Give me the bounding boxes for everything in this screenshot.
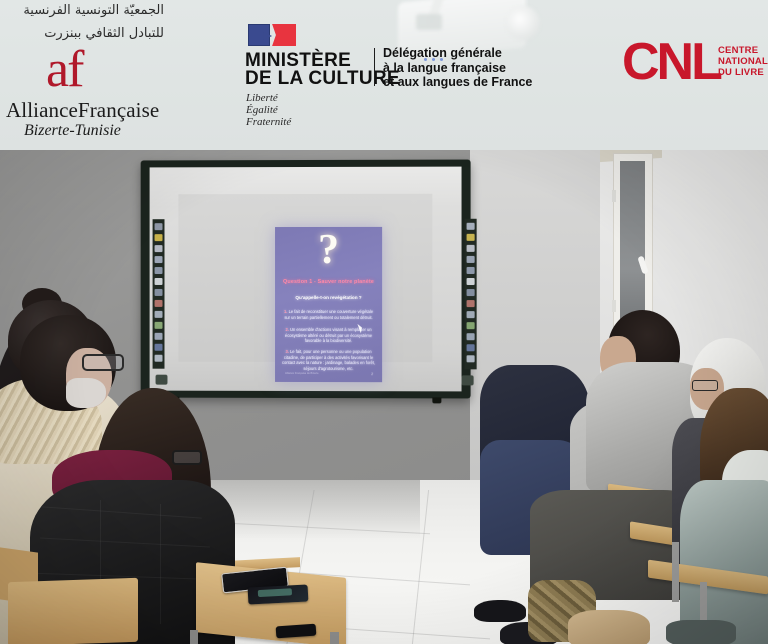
toolbar-icon[interactable] bbox=[467, 223, 475, 230]
slide-option-3-text: Le fait, pour une personne ou une popula… bbox=[282, 349, 375, 371]
af-arabic-line-2: للتبادل الثقافي ببنزرت bbox=[44, 26, 164, 41]
af-arabic-line-1: الجمعيّة التونسية الفرنسية bbox=[23, 3, 164, 18]
delegation-line-2: à la langue française bbox=[383, 61, 532, 76]
ministere-line-2: DE LA CULTURE bbox=[245, 68, 400, 90]
window-hinge bbox=[612, 300, 616, 312]
ministere-divider bbox=[374, 48, 375, 86]
toolbar-icon[interactable] bbox=[467, 300, 475, 307]
ministere-culture-logo: MINISTÈRE DE LA CULTURE Liberté Égalité … bbox=[243, 24, 383, 124]
toolbar-icon[interactable] bbox=[467, 267, 475, 274]
whiteboard-pen-tray-left[interactable] bbox=[156, 375, 168, 385]
slide-subtitle: Qu'appelle-t-on revégétation ? bbox=[275, 295, 382, 300]
toolbar-icon[interactable] bbox=[155, 344, 163, 351]
whiteboard-toolbar-left[interactable] bbox=[153, 219, 165, 369]
toolbar-icon[interactable] bbox=[155, 289, 163, 296]
toolbar-icon[interactable] bbox=[155, 223, 163, 230]
whiteboard-toolbar-right[interactable] bbox=[465, 219, 477, 370]
af-city-line: Bizerte-Tunisie bbox=[24, 122, 121, 140]
cnl-wordmark: CNL bbox=[622, 36, 720, 88]
slide-option-1: 1. Le fait de reconstituer une couvertur… bbox=[281, 309, 376, 320]
cnl-logo: CNL CENTRE NATIONAL DU LIVRE bbox=[622, 38, 758, 98]
cnl-tagline: CENTRE NATIONAL DU LIVRE bbox=[718, 45, 768, 78]
cnl-tag-line-3: DU LIVRE bbox=[718, 67, 768, 78]
slide-footer: Alliance Française de Bizerte bbox=[285, 372, 319, 375]
af-city: Bizerte bbox=[24, 122, 69, 139]
screenshot-root: الجمعيّة التونسية الفرنسية للتبادل الثقا… bbox=[0, 0, 768, 644]
beige-boot bbox=[568, 610, 650, 644]
toolbar-icon[interactable] bbox=[155, 333, 163, 340]
slide-option-1-number: 1. bbox=[284, 309, 287, 314]
toolbar-icon[interactable] bbox=[467, 311, 475, 318]
toolbar-icon[interactable] bbox=[467, 278, 475, 285]
af-country: Tunisie bbox=[75, 122, 121, 139]
whiteboard-surface: ? Question 1 - Sauver notre planète Qu'a… bbox=[150, 167, 462, 392]
whiteboard-pen-tray-right[interactable] bbox=[462, 375, 474, 385]
toolbar-icon[interactable] bbox=[467, 322, 475, 329]
slide-option-3-number: 3. bbox=[285, 349, 288, 354]
devise-egalite: Égalité bbox=[246, 104, 278, 116]
devise-fraternite: Fraternité bbox=[246, 116, 291, 128]
desk-leg bbox=[330, 632, 339, 644]
eyeglasses-icon bbox=[82, 354, 124, 371]
student-arm bbox=[666, 620, 736, 644]
alliance-francaise-logo: الجمعيّة التونسية الفرنسية للتبادل الثقا… bbox=[0, 0, 178, 150]
toolbar-icon[interactable] bbox=[467, 245, 475, 252]
classroom-photo: ? Question 1 - Sauver notre planète Qu'a… bbox=[0, 150, 768, 644]
slide-page-number: 2 bbox=[371, 372, 373, 376]
eyeglasses-icon bbox=[692, 380, 718, 391]
projector-lens-ghost bbox=[506, 6, 540, 40]
toolbar-icon[interactable] bbox=[155, 311, 163, 318]
eyeglasses-icon bbox=[172, 450, 202, 465]
toolbar-icon[interactable] bbox=[155, 245, 163, 252]
delegation-generale-text: Délégation générale à la langue français… bbox=[383, 46, 532, 90]
window-hinge bbox=[612, 190, 616, 202]
devise-liberte: Liberté bbox=[246, 92, 278, 104]
af-name: AllianceFrançaise bbox=[6, 98, 159, 123]
slide-title: Question 1 - Sauver notre planète bbox=[275, 279, 382, 285]
desk-leg bbox=[190, 630, 198, 644]
face-mask bbox=[66, 378, 106, 408]
toolbar-icon[interactable] bbox=[467, 289, 475, 296]
toolbar-icon[interactable] bbox=[467, 256, 475, 263]
toolbar-icon[interactable] bbox=[467, 333, 475, 340]
toolbar-icon[interactable] bbox=[155, 256, 163, 263]
toolbar-icon[interactable] bbox=[467, 344, 475, 351]
slide-option-2-number: 2. bbox=[285, 327, 288, 332]
whiteboard-mount bbox=[432, 397, 441, 403]
toolbar-icon[interactable] bbox=[467, 234, 475, 241]
cnl-tag-line-2: NATIONAL bbox=[718, 56, 768, 67]
projected-slide: ? Question 1 - Sauver notre planète Qu'a… bbox=[275, 227, 382, 382]
question-mark-icon: ? bbox=[275, 229, 382, 271]
projector-vent-ghost bbox=[416, 14, 442, 30]
toolbar-icon[interactable] bbox=[155, 234, 163, 241]
chair-leg bbox=[672, 542, 679, 602]
cnl-tag-line-1: CENTRE bbox=[718, 45, 768, 56]
af-monogram-icon: af bbox=[46, 44, 82, 96]
smartphone-black[interactable] bbox=[248, 584, 309, 604]
toolbar-icon[interactable] bbox=[467, 355, 475, 362]
slide-option-1-text: Le fait de reconstituer une couverture v… bbox=[284, 309, 373, 320]
projection-area: ? Question 1 - Sauver notre planète Qu'a… bbox=[178, 194, 432, 362]
toolbar-icon[interactable] bbox=[155, 300, 163, 307]
interactive-whiteboard[interactable]: ? Question 1 - Sauver notre planète Qu'a… bbox=[141, 160, 471, 399]
shoe bbox=[474, 600, 526, 622]
toolbar-icon[interactable] bbox=[155, 322, 163, 329]
delegation-line-1: Délégation générale bbox=[383, 46, 532, 61]
slide-option-3: 3. Le fait, pour une personne ou une pop… bbox=[281, 349, 376, 372]
phone-screen bbox=[258, 588, 292, 597]
toolbar-icon[interactable] bbox=[155, 355, 163, 362]
toolbar-icon[interactable] bbox=[155, 278, 163, 285]
toolbar-icon[interactable] bbox=[155, 267, 163, 274]
sponsor-banner: الجمعيّة التونسية الفرنسية للتبادل الثقا… bbox=[0, 0, 768, 150]
french-flag-marianne-icon bbox=[248, 24, 296, 46]
delegation-line-3: et aux langues de France bbox=[383, 75, 532, 90]
chair-seat bbox=[8, 578, 138, 644]
